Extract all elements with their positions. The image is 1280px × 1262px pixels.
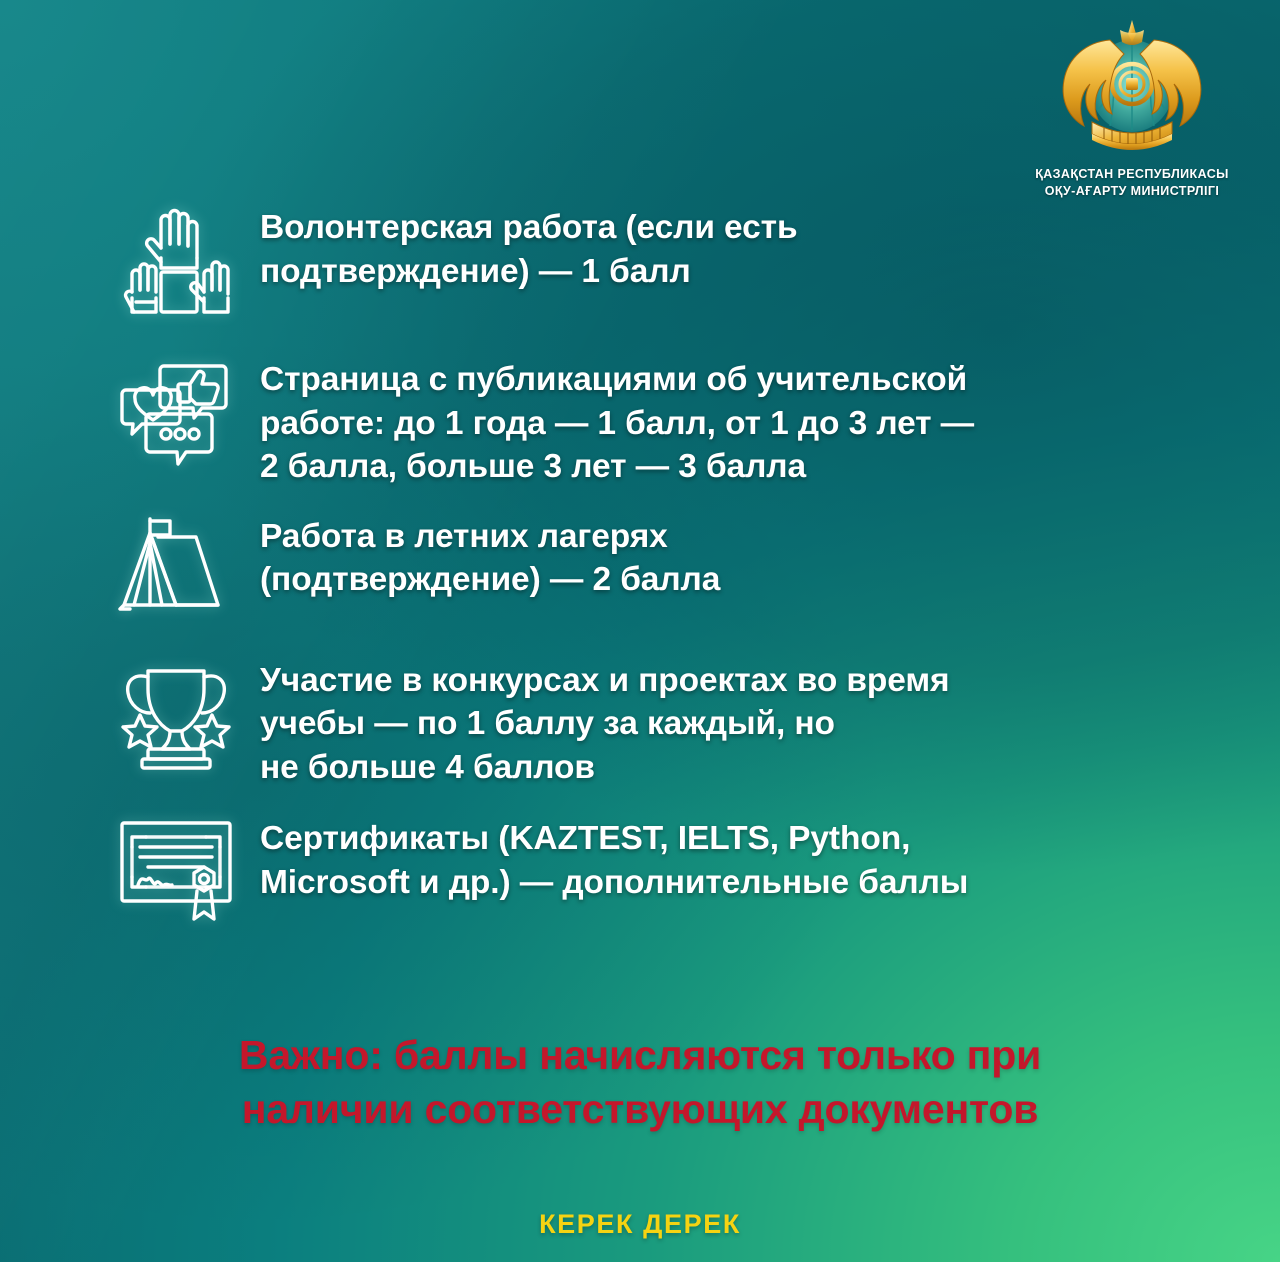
list-item-icon-cell — [92, 196, 260, 318]
ministry-emblem-block: ҚАЗАҚСТАН РЕСПУБЛИКАСЫ ОҚУ-АҒАРТУ МИНИСТ… — [1022, 14, 1242, 200]
list-item-icon-cell — [92, 649, 260, 771]
footer-bar: КЕРЕК ДЕРЕК — [0, 1209, 1280, 1240]
list-item: Сертификаты (KAZTEST, IELTS, Python, Mic… — [92, 807, 1210, 929]
raised-hands-icon — [116, 200, 236, 318]
ministry-emblem-caption: ҚАЗАҚСТАН РЕСПУБЛИКАСЫ ОҚУ-АҒАРТУ МИНИСТ… — [1022, 166, 1242, 200]
list-item-icon-cell — [92, 505, 260, 627]
camping-tent-icon — [116, 509, 236, 627]
list-item-text: Страница с публикациями об учительской р… — [260, 348, 1210, 489]
list-item-text: Волонтерская работа (если есть подтвержд… — [260, 196, 1210, 293]
social-media-bubbles-icon — [116, 352, 236, 470]
list-item-icon-cell — [92, 348, 260, 470]
list-item: Волонтерская работа (если есть подтвержд… — [92, 196, 1210, 318]
list-item-text: Сертификаты (KAZTEST, IELTS, Python, Mic… — [260, 807, 1210, 904]
kazakhstan-state-emblem-icon — [1048, 14, 1216, 162]
list-item-text: Работа в летних лагерях (подтверждение) … — [260, 505, 1210, 602]
list-item-icon-cell — [92, 807, 260, 929]
important-warning-text: Важно: баллы начисляются только при нали… — [0, 1028, 1280, 1136]
trophy-icon — [116, 653, 236, 771]
infographic-page: ҚАЗАҚСТАН РЕСПУБЛИКАСЫ ОҚУ-АҒАРТУ МИНИСТ… — [0, 0, 1280, 1262]
list-item: Страница с публикациями об учительской р… — [92, 348, 1210, 489]
list-item: Работа в летних лагерях (подтверждение) … — [92, 505, 1210, 627]
footer-brand-label: КЕРЕК ДЕРЕК — [539, 1209, 741, 1240]
list-item-text: Участие в конкурсах и проектах во время … — [260, 649, 1210, 790]
list-item: Участие в конкурсах и проектах во время … — [92, 649, 1210, 790]
criteria-list: Волонтерская работа (если есть подтвержд… — [92, 196, 1210, 929]
certificate-icon — [116, 811, 236, 929]
